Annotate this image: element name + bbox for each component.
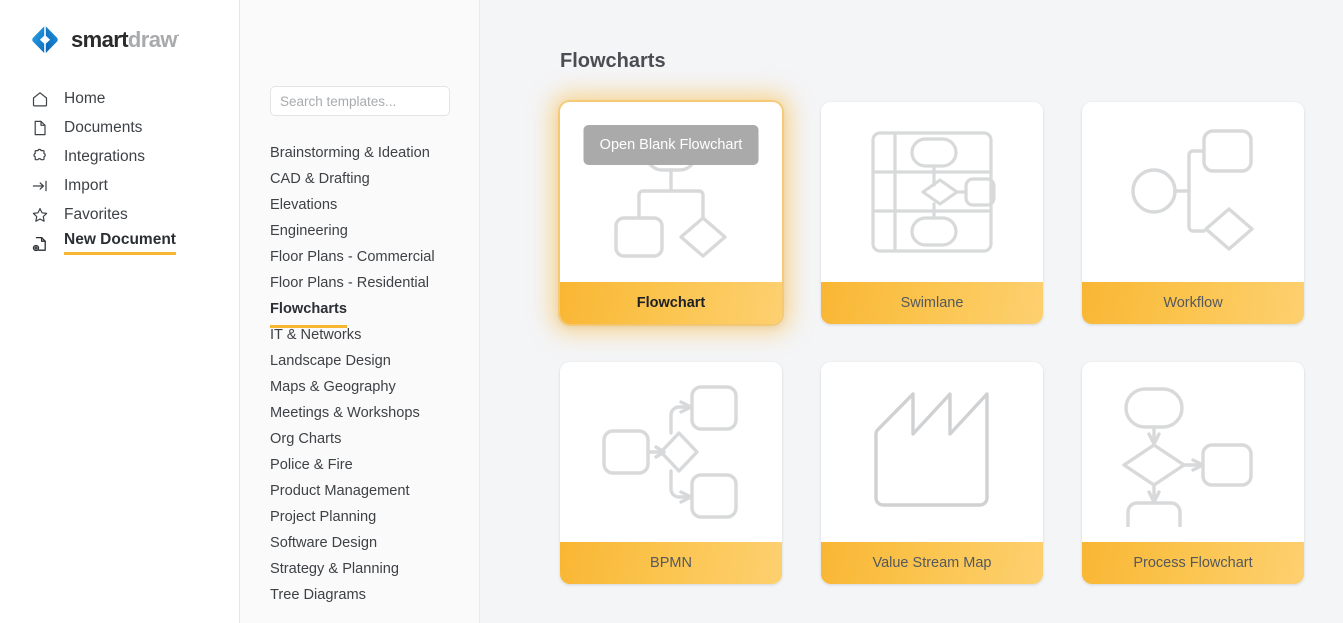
category-item-maps-geography[interactable]: Maps & Geography <box>240 374 479 400</box>
sidebar-item-import[interactable]: Import <box>0 171 239 200</box>
puzzle-piece-icon <box>30 147 49 166</box>
template-card-value-stream-map[interactable]: Value Stream Map <box>821 362 1043 584</box>
category-item-elevations[interactable]: Elevations <box>240 192 479 218</box>
sidebar-item-integrations[interactable]: Integrations <box>0 142 239 171</box>
category-label: Floor Plans - Commercial <box>270 244 435 270</box>
value-stream-map-thumb-icon <box>866 386 998 518</box>
category-label: Product Management <box>270 478 410 504</box>
brand-trademark: · <box>177 30 180 41</box>
main-content-area: Flowcharts Open Blank Flowchart <box>480 0 1343 623</box>
search-input[interactable] <box>271 87 450 115</box>
card-label: Value Stream Map <box>821 542 1043 584</box>
card-label: Flowchart <box>560 282 782 324</box>
card-label: Process Flowchart <box>1082 542 1304 584</box>
category-label: Tree Diagrams <box>270 582 366 608</box>
template-category-panel: Brainstorming & Ideation CAD & Drafting … <box>240 0 480 623</box>
category-label: Engineering <box>270 218 348 244</box>
sidebar-item-label: Favorites <box>64 207 128 223</box>
card-thumbnail <box>821 102 1043 282</box>
category-item-landscape-design[interactable]: Landscape Design <box>240 348 479 374</box>
category-label: IT & Networks <box>270 322 361 348</box>
category-item-cad-drafting[interactable]: CAD & Drafting <box>240 166 479 192</box>
brand-name-secondary: draw <box>128 27 177 52</box>
page-title: Flowcharts <box>560 50 1343 73</box>
category-label: Software Design <box>270 530 377 556</box>
template-card-bpmn[interactable]: BPMN <box>560 362 782 584</box>
category-item-project-planning[interactable]: Project Planning <box>240 504 479 530</box>
template-card-flowchart[interactable]: Open Blank Flowchart Flowchart <box>560 102 782 324</box>
template-card-workflow[interactable]: Workflow <box>1082 102 1304 324</box>
sidebar-item-label: New Document <box>64 232 176 256</box>
card-thumbnail <box>821 362 1043 542</box>
sidebar-item-documents[interactable]: Documents <box>0 113 239 142</box>
import-arrow-icon <box>30 176 49 195</box>
document-icon <box>30 118 49 137</box>
template-card-grid: Open Blank Flowchart Flowchart <box>560 102 1343 584</box>
card-thumbnail: Open Blank Flowchart <box>560 102 782 282</box>
category-label: Floor Plans - Residential <box>270 270 429 296</box>
swimlane-thumb-icon <box>866 126 998 258</box>
category-item-floor-plans-residential[interactable]: Floor Plans - Residential <box>240 270 479 296</box>
category-label: Strategy & Planning <box>270 556 399 582</box>
category-label: CAD & Drafting <box>270 166 370 192</box>
workflow-thumb-icon <box>1118 117 1268 267</box>
category-item-floor-plans-commercial[interactable]: Floor Plans - Commercial <box>240 244 479 270</box>
card-thumbnail <box>1082 102 1304 282</box>
category-label: Landscape Design <box>270 348 391 374</box>
search-templates-box[interactable] <box>270 86 450 116</box>
card-thumbnail <box>560 362 782 542</box>
category-item-meetings-workshops[interactable]: Meetings & Workshops <box>240 400 479 426</box>
category-item-tree-diagrams[interactable]: Tree Diagrams <box>240 582 479 608</box>
brand-wordmark: smartdraw· <box>71 27 180 53</box>
card-label: BPMN <box>560 542 782 584</box>
brand-logo[interactable]: smartdraw· <box>0 0 239 60</box>
sidebar-nav-list: Home Documents Integrations <box>0 84 239 258</box>
card-label: Swimlane <box>821 282 1043 324</box>
star-icon <box>30 205 49 224</box>
category-list: Brainstorming & Ideation CAD & Drafting … <box>240 140 479 608</box>
category-label: Maps & Geography <box>270 374 396 400</box>
template-card-process-flowchart[interactable]: Process Flowchart <box>1082 362 1304 584</box>
sidebar-item-home[interactable]: Home <box>0 84 239 113</box>
smartdraw-diamond-logo-icon <box>30 25 60 55</box>
category-label: Org Charts <box>270 426 341 452</box>
category-item-product-management[interactable]: Product Management <box>240 478 479 504</box>
open-blank-flowchart-button[interactable]: Open Blank Flowchart <box>584 125 759 165</box>
card-label: Workflow <box>1082 282 1304 324</box>
template-card-swimlane[interactable]: Swimlane <box>821 102 1043 324</box>
bpmn-thumb-icon <box>596 377 746 527</box>
sidebar-item-favorites[interactable]: Favorites <box>0 200 239 229</box>
category-item-brainstorming-ideation[interactable]: Brainstorming & Ideation <box>240 140 479 166</box>
category-label: Elevations <box>270 192 337 218</box>
card-thumbnail <box>1082 362 1304 542</box>
brand-name-primary: smart <box>71 27 128 52</box>
category-item-strategy-planning[interactable]: Strategy & Planning <box>240 556 479 582</box>
smartdraw-app: smartdraw· Home Document <box>0 0 1343 623</box>
category-label: Brainstorming & Ideation <box>270 140 430 166</box>
category-item-engineering[interactable]: Engineering <box>240 218 479 244</box>
home-icon <box>30 89 49 108</box>
category-item-police-fire[interactable]: Police & Fire <box>240 452 479 478</box>
left-navigation-sidebar: smartdraw· Home Document <box>0 0 240 623</box>
category-item-it-networks[interactable]: IT & Networks <box>240 322 479 348</box>
category-item-software-design[interactable]: Software Design <box>240 530 479 556</box>
category-item-org-charts[interactable]: Org Charts <box>240 426 479 452</box>
category-label: Project Planning <box>270 504 376 530</box>
category-label: Police & Fire <box>270 452 353 478</box>
new-document-icon <box>30 234 49 253</box>
sidebar-item-label: Documents <box>64 120 142 136</box>
sidebar-item-label: Import <box>64 178 108 194</box>
sidebar-item-new-document[interactable]: New Document <box>0 229 239 258</box>
category-label: Meetings & Workshops <box>270 400 420 426</box>
sidebar-item-label: Home <box>64 91 105 107</box>
sidebar-item-label: Integrations <box>64 149 145 165</box>
category-item-flowcharts[interactable]: Flowcharts <box>240 296 479 322</box>
process-flowchart-thumb-icon <box>1118 377 1268 527</box>
